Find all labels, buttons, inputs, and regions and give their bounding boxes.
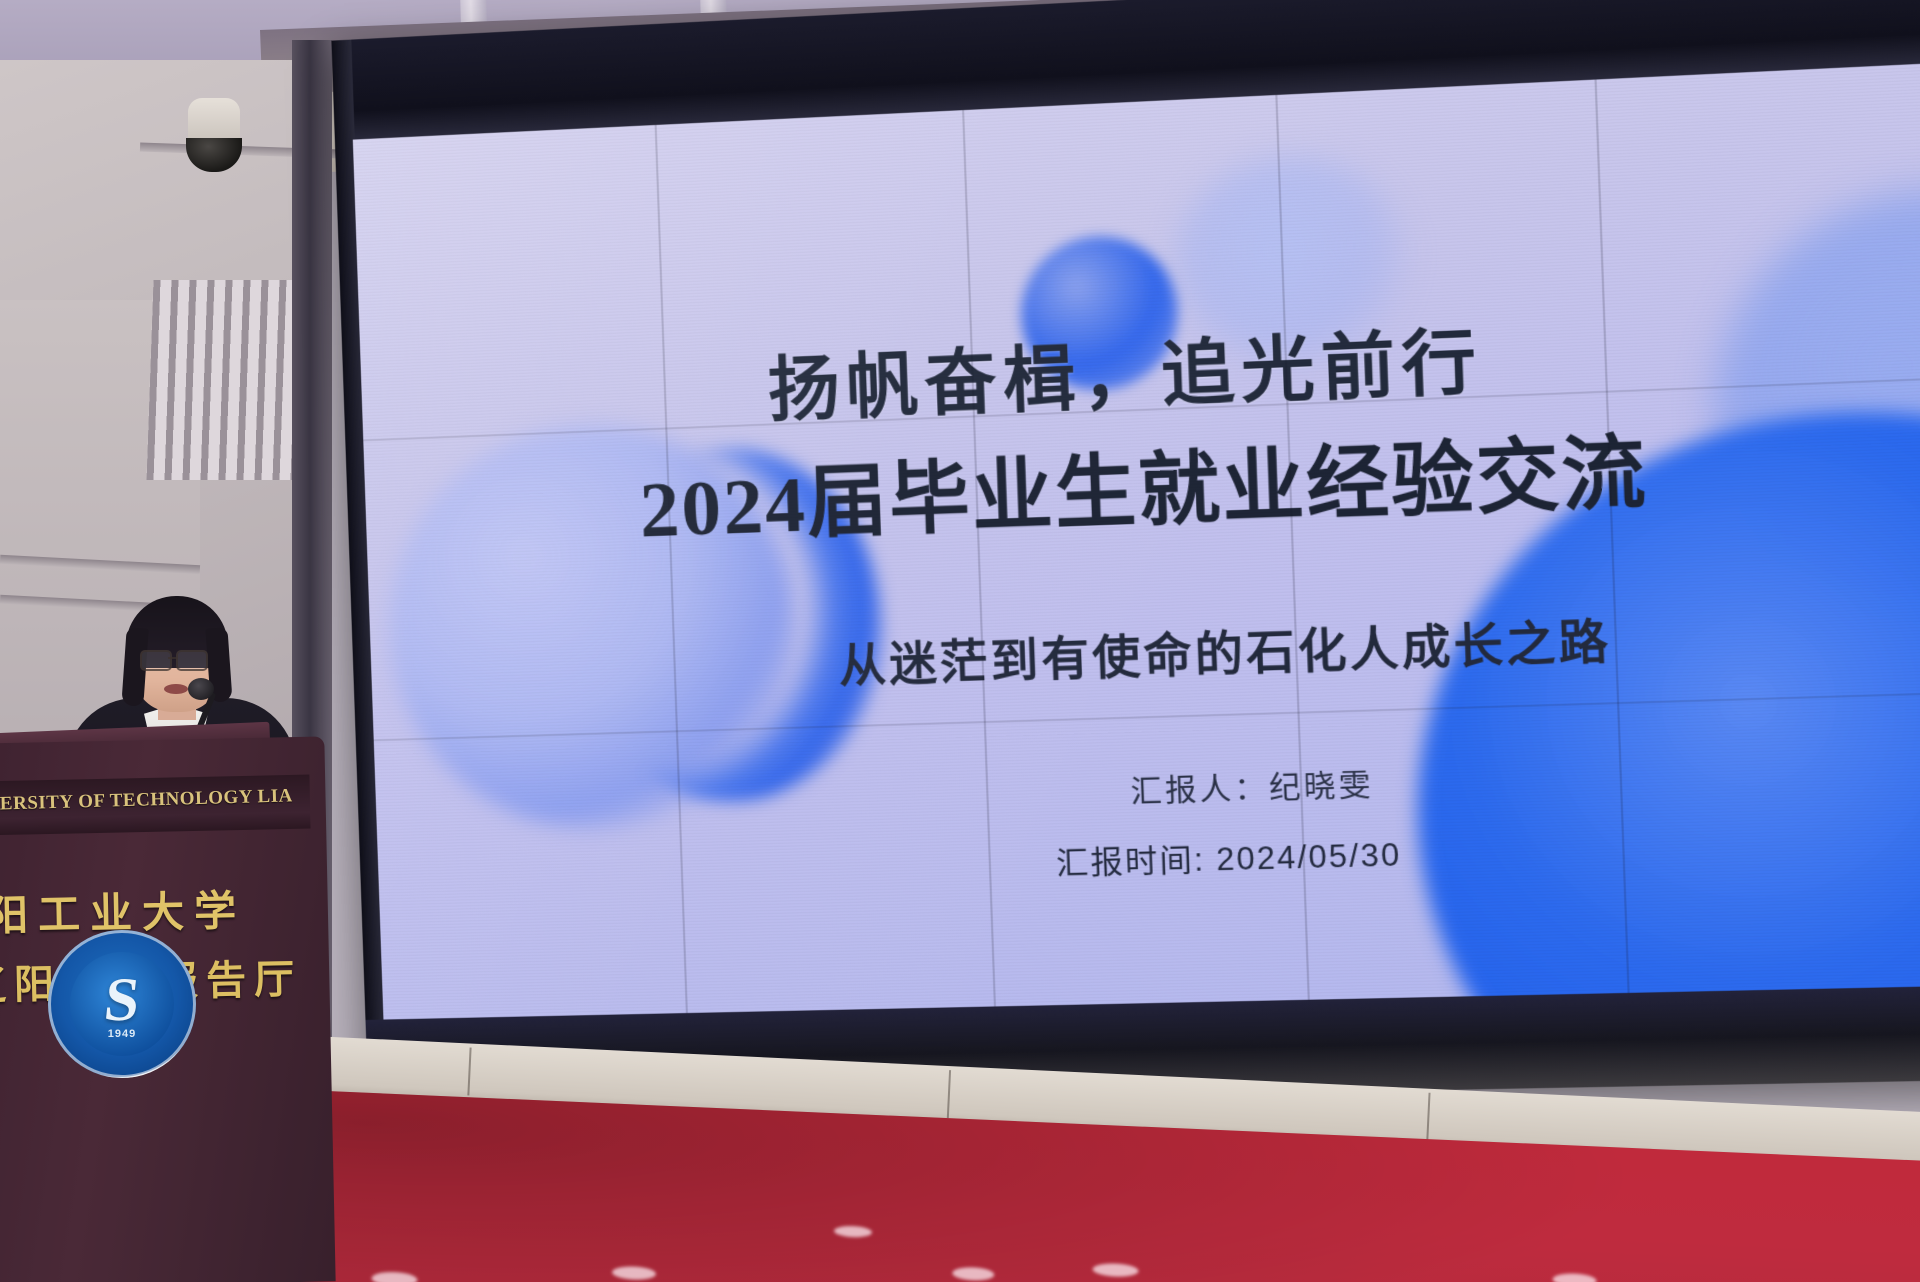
university-logo-year: 1949: [108, 1028, 136, 1040]
wall-vent: [147, 280, 314, 480]
slide-subtitle: 从迷茫到有使命的石化人成长之路: [370, 591, 1920, 710]
led-screen-frame: 扬帆奋楫，追光前行 2024届毕业生就业经验交流 从迷茫到有使命的石化人成长之路…: [331, 0, 1920, 1110]
glasses-lens-right-icon: [176, 650, 208, 671]
glasses-bridge-icon: [168, 657, 176, 659]
university-logo-disc: S 1949: [70, 952, 174, 1056]
slide-date-label: 汇报时间: 2024/05/30: [378, 813, 1920, 901]
glasses-lens-left-icon: [140, 650, 172, 671]
presentation-slide: 扬帆奋楫，追光前行 2024届毕业生就业经验交流 从迷茫到有使命的石化人成长之路…: [353, 61, 1920, 1019]
speaker-mouth: [164, 684, 188, 694]
skirt-seam: [467, 1047, 471, 1095]
slide-text-block: 扬帆奋楫，追光前行 2024届毕业生就业经验交流 从迷茫到有使命的石化人成长之路…: [353, 61, 1920, 1019]
slide-speaker-label: 汇报人：纪晓雯: [375, 741, 1920, 831]
skirt-seam: [947, 1070, 951, 1118]
university-logo-letter: S: [101, 969, 142, 1031]
skirt-seam: [1426, 1093, 1430, 1141]
lecture-hall-photo: 扬帆奋楫，追光前行 2024届毕业生就业经验交流 从迷茫到有使命的石化人成长之路…: [0, 0, 1920, 1282]
microphone-icon: [188, 678, 214, 700]
university-logo-icon: S 1949: [48, 930, 196, 1078]
